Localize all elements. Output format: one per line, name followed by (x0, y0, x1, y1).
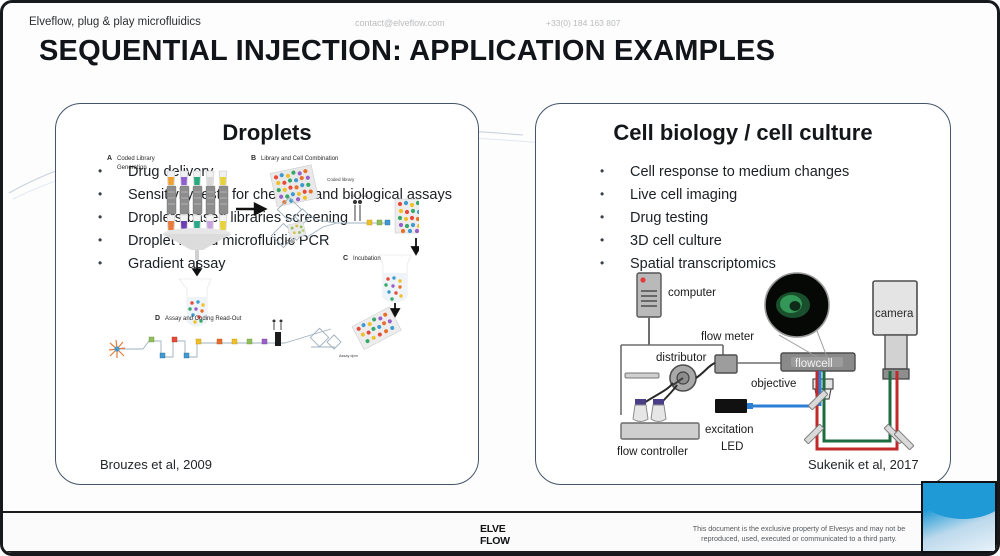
svg-text:D: D (155, 315, 160, 322)
svg-text:Generation: Generation (117, 165, 147, 171)
footer-tagline: Elveflow, plug & play microfluidics (29, 16, 201, 28)
svg-text:Cells: Cells (285, 239, 296, 244)
citation-brouzes: Brouzes et al, 2009 (100, 457, 212, 472)
list-item: 3D cell culture (596, 231, 940, 252)
svg-text:Assay dpm: Assay dpm (339, 354, 358, 358)
svg-text:B: B (251, 155, 256, 162)
figure-cell-imaging-setup: computer flow meter distributor (611, 265, 953, 477)
svg-text:Incubation: Incubation (353, 256, 381, 262)
svg-text:computer: computer (668, 287, 716, 299)
svg-text:flowcell: flowcell (795, 358, 833, 370)
pip-video-content (921, 481, 997, 519)
svg-text:Surf.: Surf. (361, 194, 369, 198)
svg-text:flow controller: flow controller (617, 446, 688, 458)
footer-phone: +33(0) 184 163 807 (546, 18, 620, 28)
list-item: Drug testing (596, 208, 940, 229)
svg-text:excitation: excitation (705, 424, 754, 436)
svg-text:Coded Library: Coded Library (117, 156, 155, 162)
svg-text:Library and Cell Combination: Library and Cell Combination (261, 156, 338, 162)
svg-text:Coded library: Coded library (327, 177, 355, 182)
page-title: SEQUENTIAL INJECTION: APPLICATION EXAMPL… (39, 35, 775, 68)
svg-text:camera: camera (875, 308, 914, 320)
svg-text:A: A (107, 155, 112, 162)
footer-disclaimer: This document is the exclusive property … (675, 524, 923, 543)
cellbio-bullet-list: Cell response to medium changes Live cel… (596, 162, 940, 277)
list-item: Live cell imaging (596, 185, 940, 206)
svg-text:distributor: distributor (656, 352, 707, 364)
pip-video-overlay[interactable] (921, 481, 997, 553)
svg-text:flow meter: flow meter (701, 331, 754, 343)
computer-icon (637, 273, 661, 317)
droplet-workflow-svg: A Coded Library Generation B Library and… (99, 151, 419, 373)
elveflow-logo-line1: ELVE (480, 524, 524, 536)
svg-text:objective: objective (751, 378, 796, 390)
panel-cell-biology-title: Cell biology / cell culture (536, 120, 950, 146)
slide-frame: SEQUENTIAL INJECTION: APPLICATION EXAMPL… (0, 0, 1000, 556)
svg-text:Assay and Coding Read-Out: Assay and Coding Read-Out (165, 316, 242, 322)
elveflow-logo: ELVE FLOW (480, 524, 524, 550)
footer-email[interactable]: contact@elveflow.com (355, 18, 445, 28)
cell-imaging-setup-svg: computer flow meter distributor (611, 265, 953, 477)
list-item: Cell response to medium changes (596, 162, 940, 183)
svg-text:C: C (343, 255, 348, 262)
svg-text:LED: LED (721, 441, 743, 453)
figure-droplet-workflow: A Coded Library Generation B Library and… (99, 151, 419, 373)
panel-droplets-title: Droplets (56, 120, 478, 146)
elveflow-logo-line2: FLOW (480, 536, 524, 548)
svg-text:Oil: Oil (351, 194, 356, 198)
